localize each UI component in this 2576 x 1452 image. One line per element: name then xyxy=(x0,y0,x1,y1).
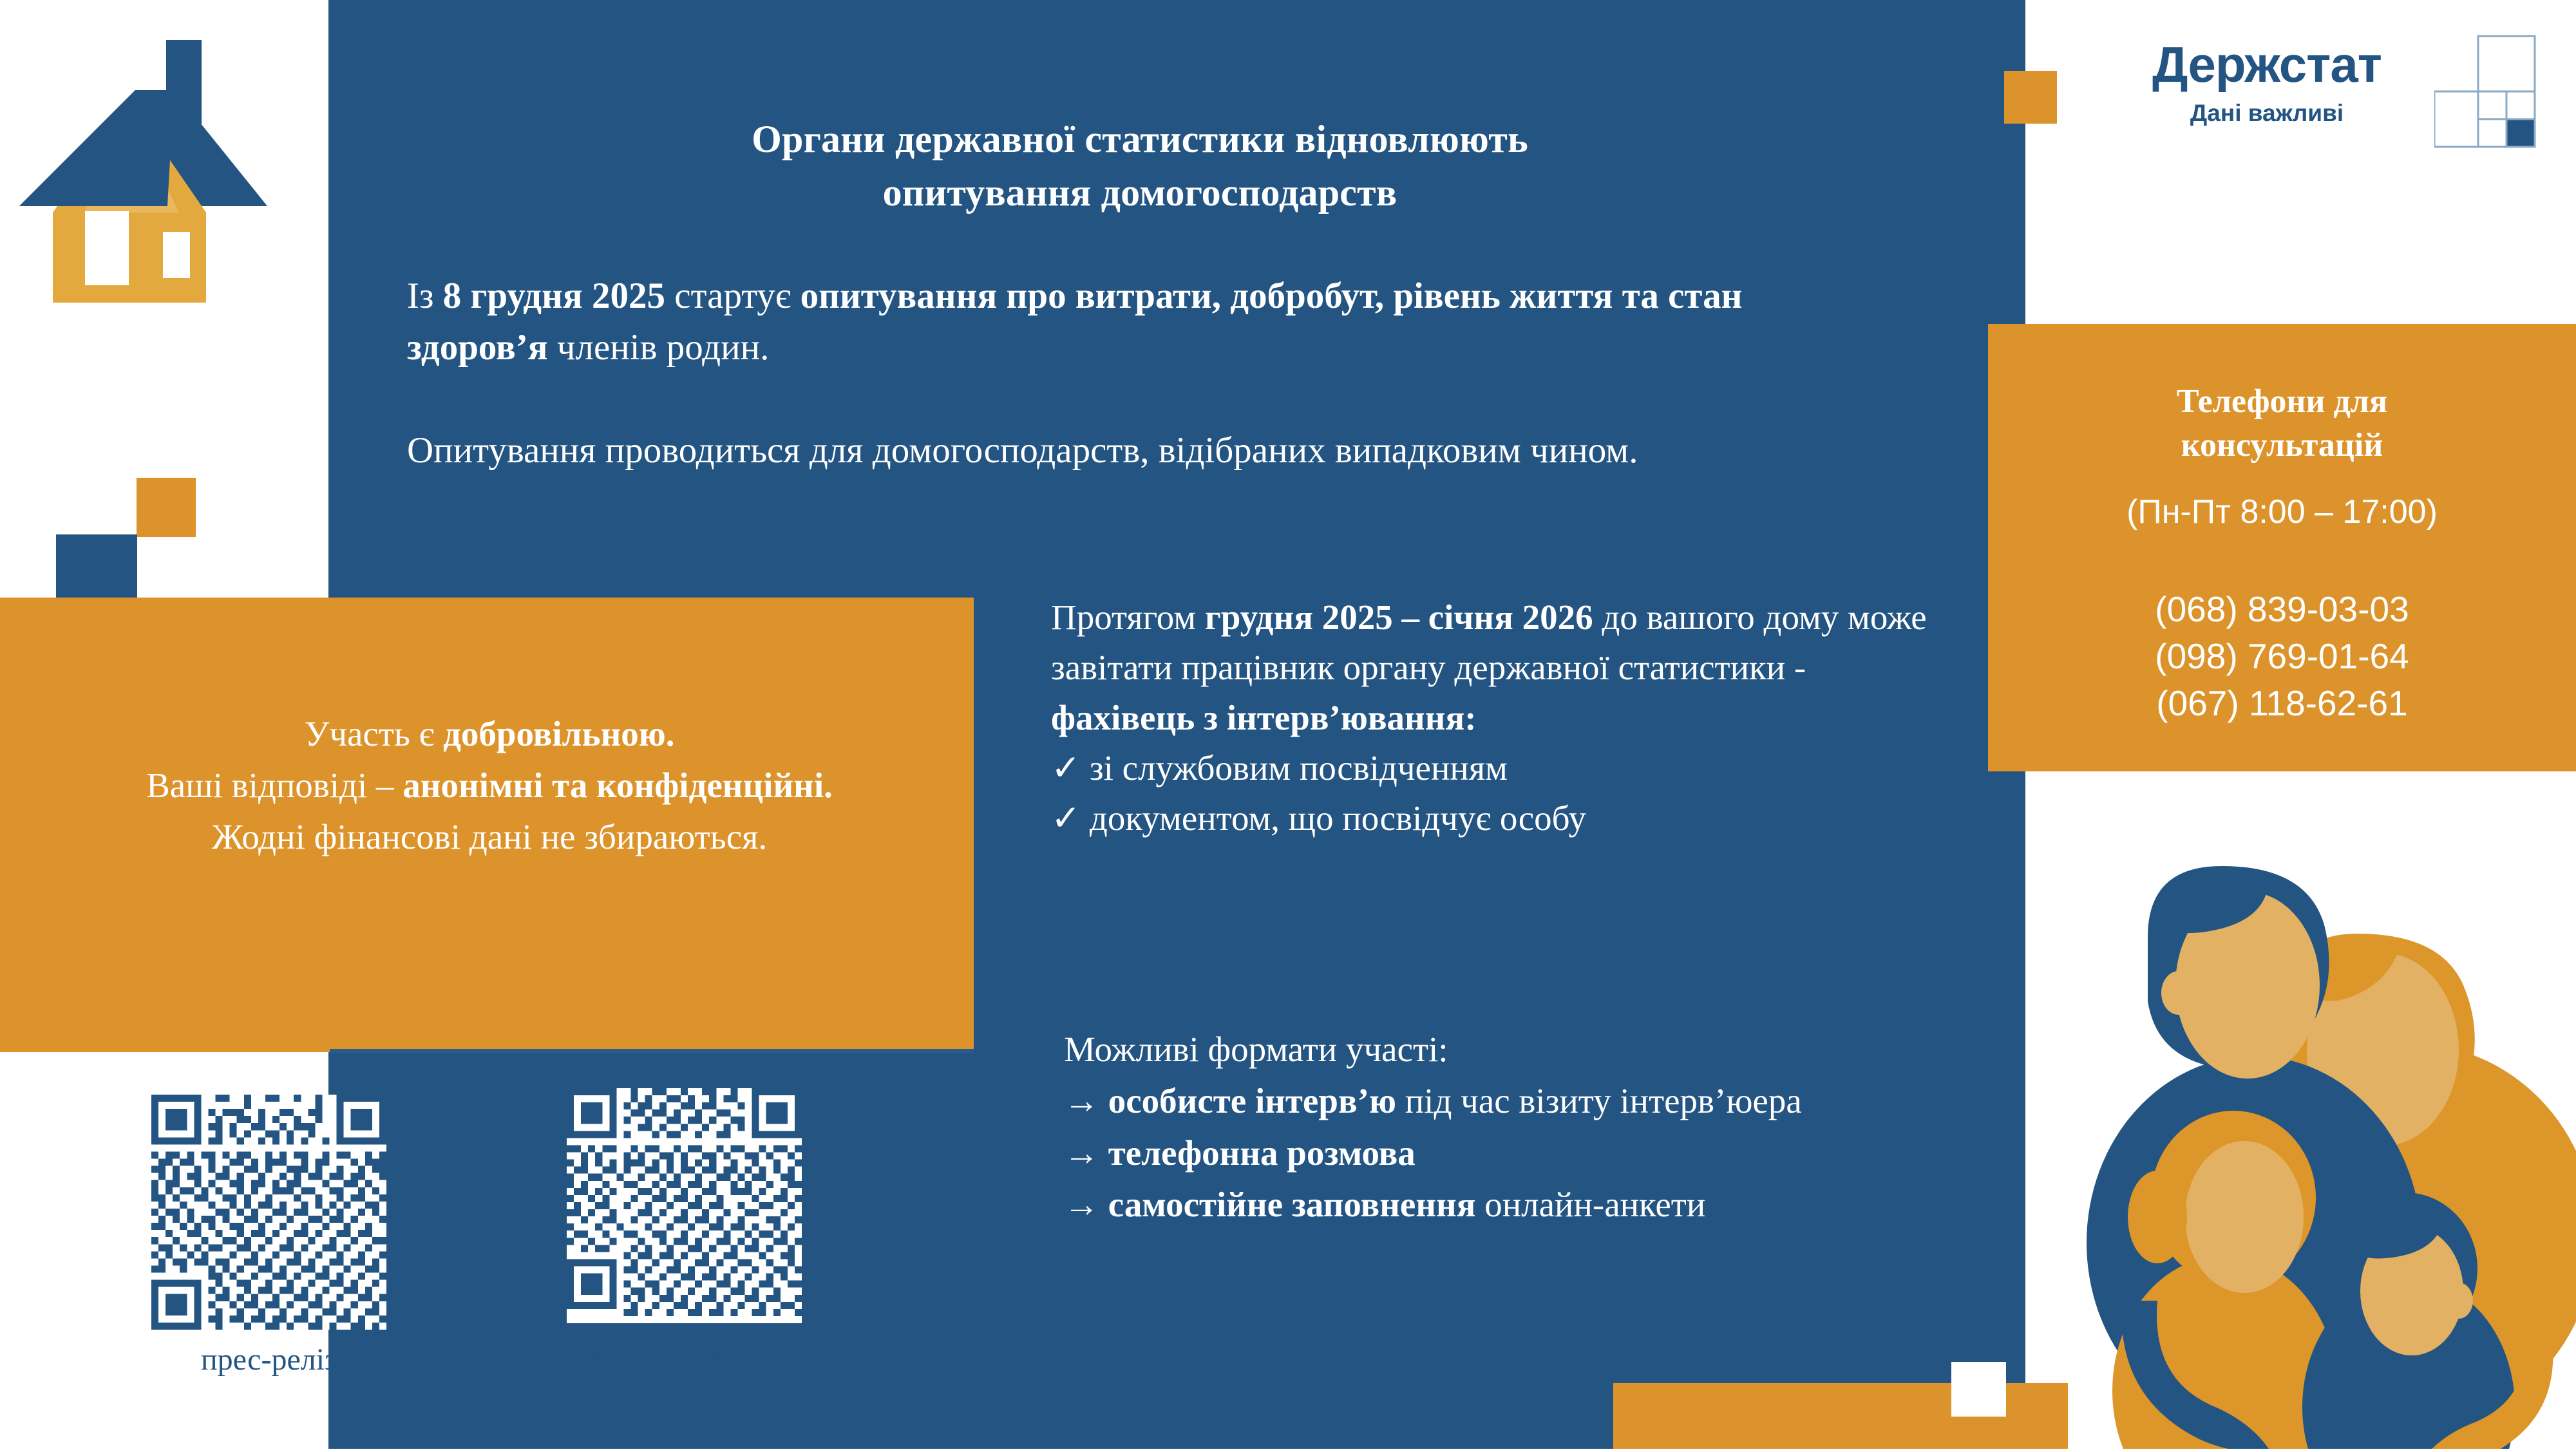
format-item-online-rest: онлайн-анкети xyxy=(1475,1185,1705,1224)
derzhstat-logo: Держстат Дані важливі xyxy=(2106,35,2576,184)
interviewer-credential-2-label: документом, що посвідчує особу xyxy=(1090,798,1586,838)
qr-press-release-icon[interactable] xyxy=(151,1095,386,1330)
interviewer-credential-1-label: зі службовим посвідченням xyxy=(1090,748,1508,787)
format-item-online-emphasis: самостійне заповнення xyxy=(1108,1185,1476,1224)
qr-survey-details-caption: детальніше про опитування xyxy=(546,1335,823,1410)
arrow-right-icon: → xyxy=(1064,1133,1099,1173)
qr-press-release[interactable]: прес-реліз xyxy=(151,1095,386,1379)
arrow-right-icon: → xyxy=(1064,1185,1099,1224)
logo-grid-icon xyxy=(2434,26,2563,148)
voluntary-line-2-emphasis: анонімні та конфіденційні. xyxy=(402,766,833,805)
voluntary-line-1-prefix: Участь є xyxy=(304,714,443,753)
interviewer-paragraph: Протягом грудня 2025 – січня 2026 до ваш… xyxy=(1051,592,1953,743)
voluntary-line-2-prefix: Ваші відповіді – xyxy=(146,766,402,805)
decorative-square-white-bottom xyxy=(1951,1362,2006,1417)
format-item-online: → самостійне заповнення онлайн-анкети xyxy=(1064,1179,1965,1230)
format-item-phone-emphasis: телефонна розмова xyxy=(1108,1133,1416,1173)
intro-paragraph-1: Із 8 грудня 2025 стартує опитування про … xyxy=(407,270,1882,373)
format-item-phone: → телефонна розмова xyxy=(1064,1127,1965,1179)
consultation-phones-title: Телефони для консультацій xyxy=(1988,380,2576,467)
intro-p1-part-a: Із xyxy=(407,276,443,316)
voluntary-line-3: Жодні фінансові дані не збираються. xyxy=(13,811,966,863)
arrow-right-icon: → xyxy=(1064,1081,1099,1120)
participation-formats-block: Можливі формати участі: → особисте інтер… xyxy=(1064,1024,1965,1230)
qr-press-release-caption: прес-реліз xyxy=(151,1341,386,1379)
check-mark-icon: ✓ xyxy=(1051,798,1081,838)
logo-accent-square xyxy=(2004,71,2057,124)
family-illustration xyxy=(2061,792,2576,1449)
consultation-hours: (Пн-Пт 8:00 – 17:00) xyxy=(1988,493,2576,531)
format-item-personal-emphasis: особисте інтерв’ю xyxy=(1108,1081,1396,1120)
qr-survey-details-icon[interactable] xyxy=(567,1088,802,1323)
voluntary-line-1-emphasis: добровільною. xyxy=(443,714,674,753)
format-item-personal-rest: під час візиту інтерв’юера xyxy=(1396,1081,1802,1120)
decorative-square-orange xyxy=(137,478,196,537)
house-icon xyxy=(13,19,283,303)
voluntary-participation-text: Участь є добровільною. Ваші відповіді – … xyxy=(13,708,966,862)
interviewer-period: грудня 2025 – січня 2026 xyxy=(1205,598,1593,637)
poster-canvas: Органи державної статистики відновлюють … xyxy=(0,0,2576,1449)
page-title: Органи державної статистики відновлюють … xyxy=(399,113,1880,220)
phone-number-3[interactable]: (067) 118-62-61 xyxy=(1988,680,2576,727)
section-divider xyxy=(330,1049,974,1053)
interviewer-role: фахівець з інтерв’ювання: xyxy=(1051,698,1477,737)
logo-wordmark: Держстат xyxy=(2106,35,2428,94)
phones-title-line-2: консультацій xyxy=(1988,424,2576,467)
interviewer-prefix: Протягом xyxy=(1051,598,1205,637)
qr-survey-details[interactable]: детальніше про опитування xyxy=(567,1088,823,1410)
consultation-phone-numbers: (068) 839-03-03 (098) 769-01-64 (067) 11… xyxy=(1988,586,2576,727)
intro-p1-part-c: стартує xyxy=(665,276,800,316)
headline-line-1: Органи державної статистики відновлюють xyxy=(399,113,1880,166)
interviewer-credential-1: ✓ зі службовим посвідченням xyxy=(1051,743,1953,793)
format-item-personal: → особисте інтерв’ю під час візиту інтер… xyxy=(1064,1075,1965,1127)
formats-title: Можливі формати участі: xyxy=(1064,1024,1965,1075)
phone-number-1[interactable]: (068) 839-03-03 xyxy=(1988,586,2576,633)
interviewer-block: Протягом грудня 2025 – січня 2026 до ваш… xyxy=(1051,592,1953,844)
check-mark-icon: ✓ xyxy=(1051,748,1081,787)
voluntary-line-1: Участь є добровільною. xyxy=(13,708,966,760)
logo-tagline: Дані важливі xyxy=(2106,100,2428,127)
intro-p1-part-e: членів родин. xyxy=(548,327,770,368)
intro-start-date: 8 грудня 2025 xyxy=(443,276,665,316)
interviewer-credential-2: ✓ документом, що посвідчує особу xyxy=(1051,793,1953,844)
voluntary-line-2: Ваші відповіді – анонімні та конфіденцій… xyxy=(13,760,966,811)
intro-paragraph-2: Опитування проводиться для домогосподарс… xyxy=(407,425,1882,476)
phones-title-line-1: Телефони для xyxy=(1988,380,2576,424)
phone-number-2[interactable]: (098) 769-01-64 xyxy=(1988,633,2576,680)
headline-line-2: опитування домогосподарств xyxy=(399,166,1880,220)
